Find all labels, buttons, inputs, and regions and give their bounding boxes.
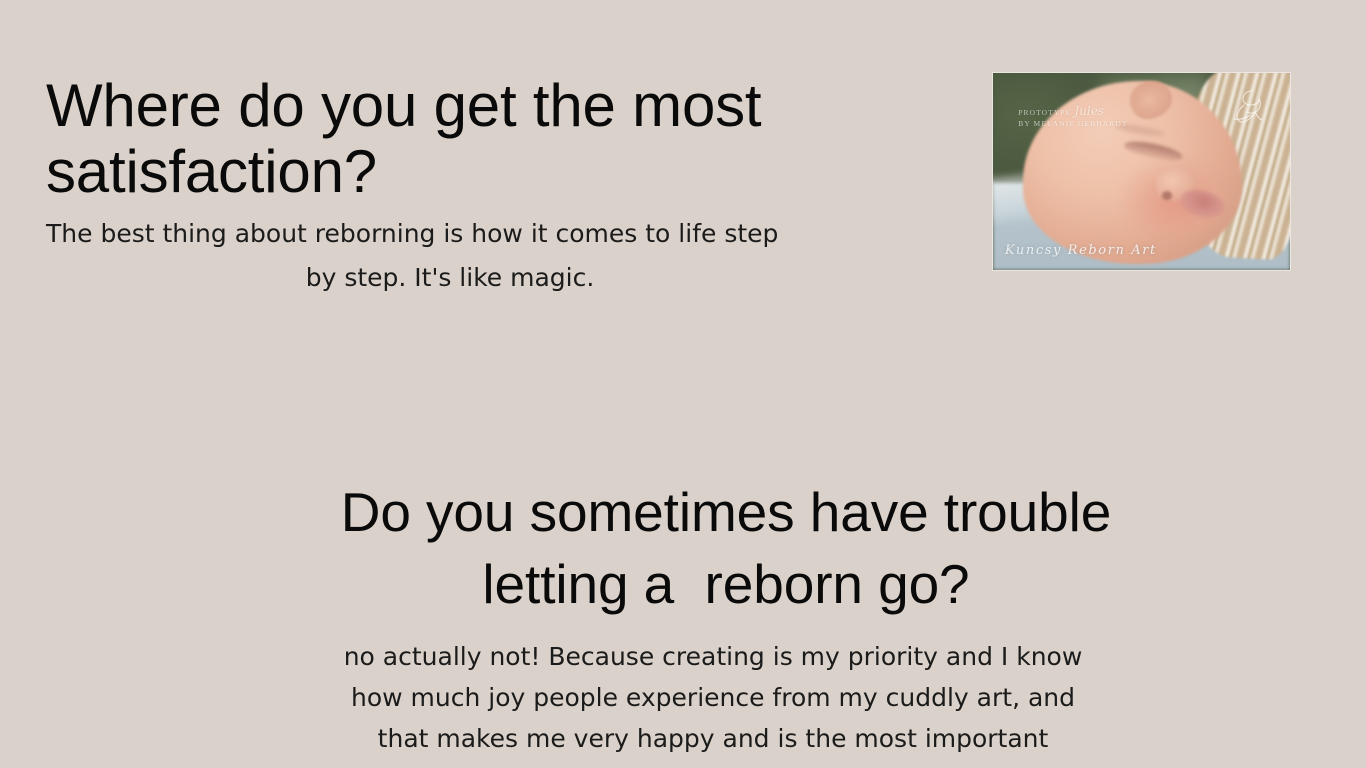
question-one-answer: The best thing about reborning is how it…	[46, 212, 854, 300]
watermark-artist-credit: By Melanie Gebhardt	[1018, 119, 1127, 128]
question-two-heading: Do you sometimes have trouble letting a …	[306, 476, 1146, 620]
question-one-heading: Where do you get the most satisfaction?	[46, 73, 906, 205]
watermark-prototype-label: Prototype	[1018, 108, 1071, 117]
script-monogram-logo-icon	[1226, 83, 1272, 131]
question-two-answer-line-1: no actually not! Because creating is my …	[300, 636, 1126, 677]
question-two-answer: no actually not! Because creating is my …	[300, 636, 1126, 759]
photo-watermark-prototype: Prototype Jules By Melanie Gebhardt	[1018, 106, 1127, 129]
question-one-answer-line-2: by step. It's like magic.	[46, 256, 854, 300]
watermark-sculpt-name: Jules	[1074, 104, 1104, 118]
reborn-baby-photo: Prototype Jules By Melanie Gebhardt Kunc…	[993, 73, 1290, 270]
question-two-answer-line-2: how much joy people experience from my c…	[300, 677, 1126, 718]
photo-watermark-studio: Kuncsy Reborn Art	[1005, 243, 1157, 258]
question-one-answer-line-1: The best thing about reborning is how it…	[46, 212, 854, 256]
slide-canvas: Where do you get the most satisfaction? …	[0, 0, 1366, 768]
question-two-answer-line-3: that makes me very happy and is the most…	[300, 718, 1126, 759]
